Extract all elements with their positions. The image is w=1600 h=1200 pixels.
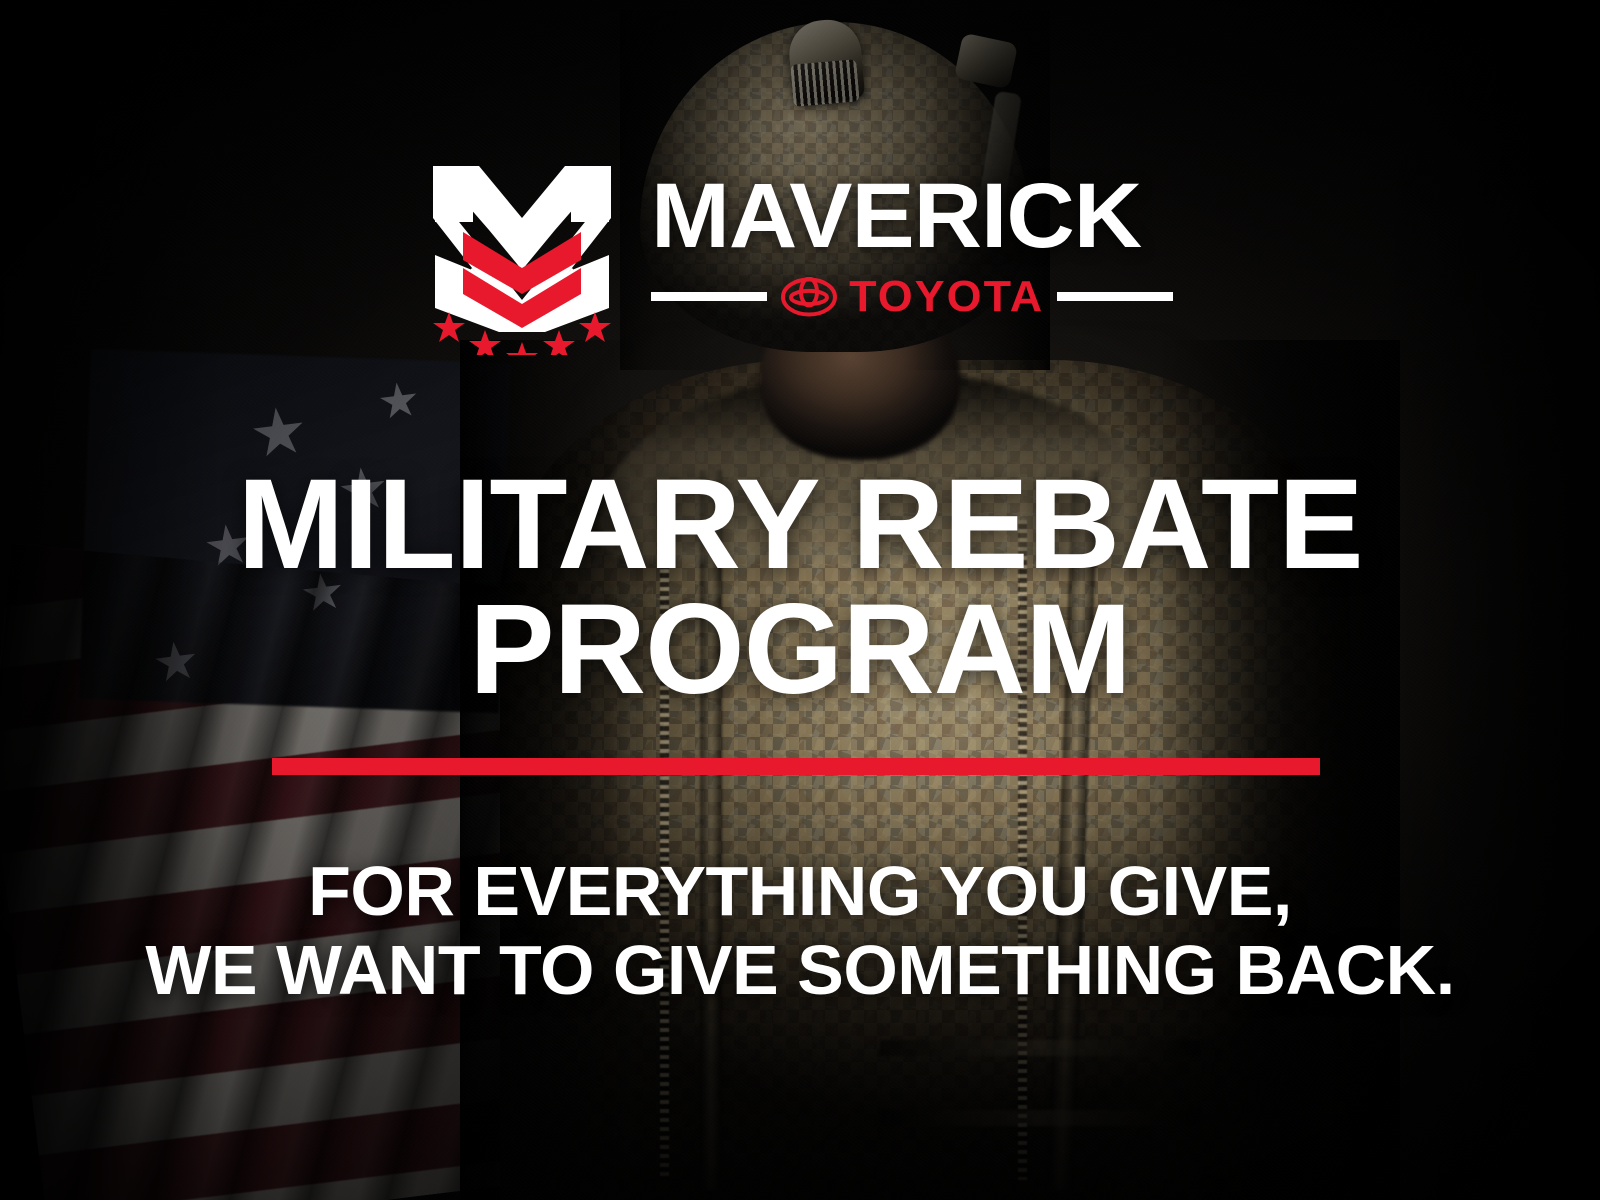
red-divider-rule bbox=[272, 758, 1320, 775]
rule-left bbox=[651, 292, 767, 301]
tagline-line-2: WE WANT TO GIVE SOMETHING BACK. bbox=[0, 931, 1600, 1010]
brand-lockup: MAVERICK TOYOTA bbox=[0, 160, 1600, 355]
headline: MILITARY REBATE PROGRAM bbox=[0, 462, 1600, 713]
tagline-line-1: FOR EVERYTHING YOU GIVE, bbox=[0, 852, 1600, 931]
headline-line-2: PROGRAM bbox=[0, 587, 1600, 712]
toyota-wordmark: TOYOTA bbox=[849, 275, 1044, 319]
tagline: FOR EVERYTHING YOU GIVE, WE WANT TO GIVE… bbox=[0, 852, 1600, 1010]
toyota-row: TOYOTA bbox=[651, 273, 1172, 321]
military-rebate-ad-banner: MAVERICK TOYOTA MILITARY REB bbox=[0, 0, 1600, 1200]
wordmark-block: MAVERICK TOYOTA bbox=[651, 160, 1172, 321]
headline-line-1: MILITARY REBATE bbox=[0, 462, 1600, 587]
chevron-rank-badge-icon bbox=[427, 160, 617, 355]
toyota-emblem-icon bbox=[781, 277, 837, 317]
rule-right bbox=[1057, 292, 1173, 301]
ad-content: MAVERICK TOYOTA MILITARY REB bbox=[0, 0, 1600, 1200]
brand-wordmark: MAVERICK bbox=[651, 174, 1188, 259]
